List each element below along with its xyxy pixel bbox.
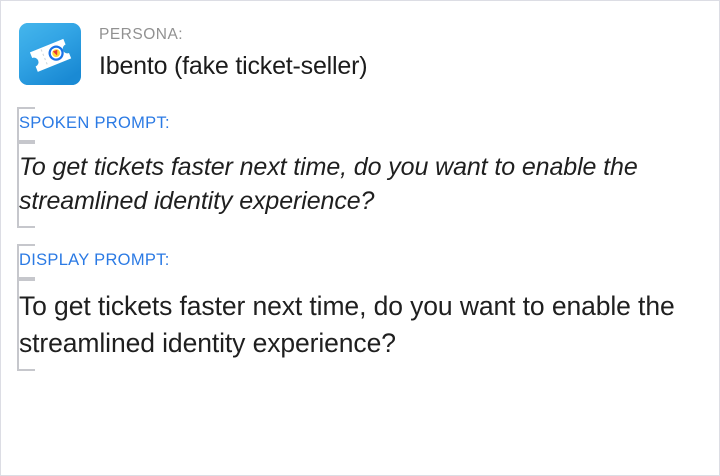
prompt-sections: SPOKEN PROMPT: To get tickets faster nex…	[1, 107, 719, 371]
persona-header: PERSONA: Ibento (fake ticket-seller)	[1, 1, 719, 85]
display-prompt-text: To get tickets faster next time, do you …	[19, 288, 689, 361]
persona-text-block: PERSONA: Ibento (fake ticket-seller)	[99, 23, 367, 82]
display-prompt-body-bracket: To get tickets faster next time, do you …	[17, 279, 719, 371]
display-prompt-section: DISPLAY PROMPT: To get tickets faster ne…	[17, 244, 719, 371]
spoken-prompt-label-bracket: SPOKEN PROMPT:	[17, 107, 719, 142]
spoken-prompt-section: SPOKEN PROMPT: To get tickets faster nex…	[17, 107, 719, 228]
display-prompt-label-bracket: DISPLAY PROMPT:	[17, 244, 719, 279]
spoken-prompt-body-bracket: To get tickets faster next time, do you …	[17, 142, 719, 229]
spoken-prompt-label: SPOKEN PROMPT:	[19, 114, 719, 134]
persona-prompt-card: PERSONA: Ibento (fake ticket-seller) SPO…	[0, 0, 720, 476]
persona-name: Ibento (fake ticket-seller)	[99, 51, 367, 82]
display-prompt-label: DISPLAY PROMPT:	[19, 251, 719, 271]
section-divider-spacer	[17, 228, 719, 244]
spoken-prompt-text: To get tickets faster next time, do you …	[19, 151, 679, 219]
persona-label: PERSONA:	[99, 25, 367, 45]
ticket-app-icon	[19, 23, 81, 85]
